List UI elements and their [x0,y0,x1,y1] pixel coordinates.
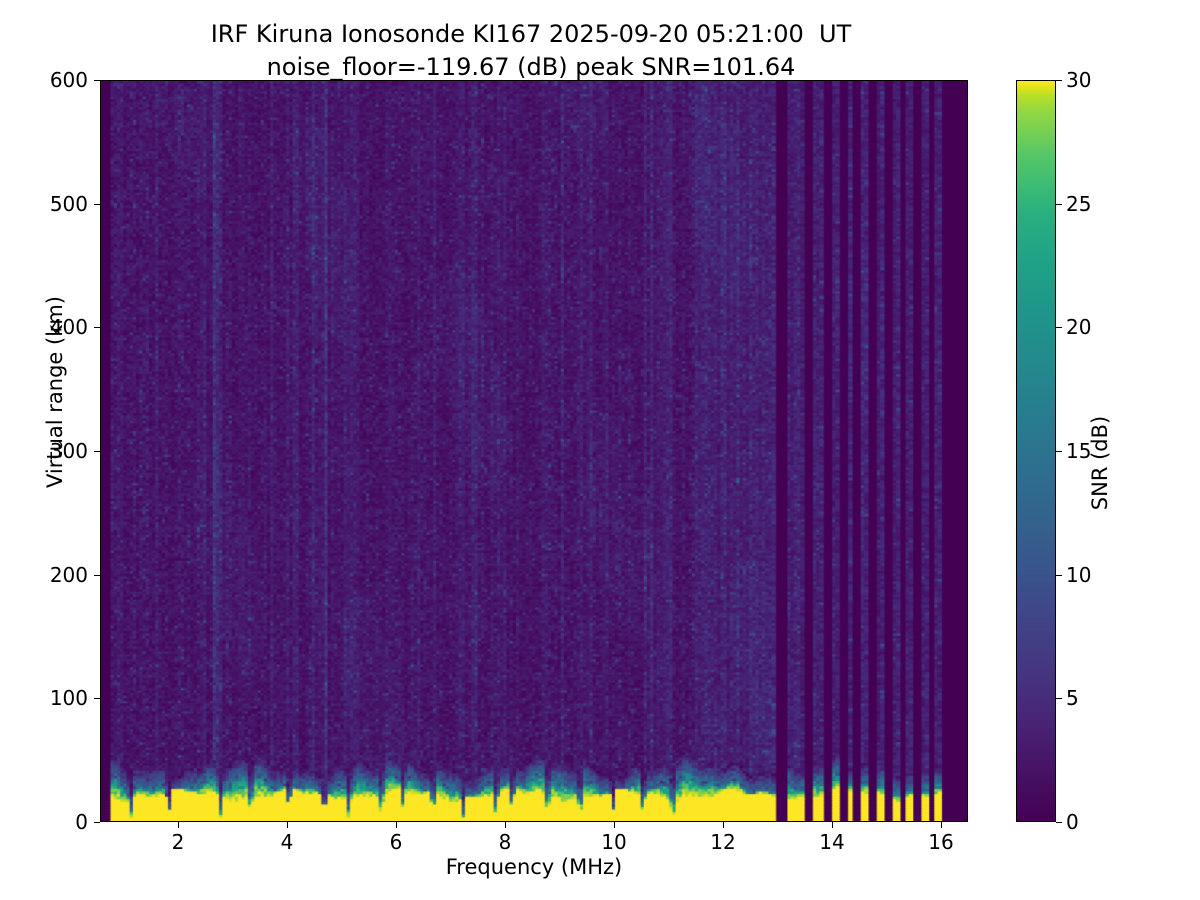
x-tick-6 [396,822,397,828]
y-tick-600 [94,80,100,81]
x-tick-label-12: 12 [710,830,735,854]
x-tick-2 [178,822,179,828]
x-tick-label-4: 4 [281,830,294,854]
ionogram-plot-area[interactable] [100,80,968,822]
x-tick-label-10: 10 [601,830,626,854]
y-tick-300 [94,451,100,452]
title-line-1: IRF Kiruna Ionosonde KI167 2025-09-20 05… [211,20,852,48]
x-tick-16 [941,822,942,828]
y-tick-500 [94,204,100,205]
ionogram-figure: IRF Kiruna Ionosonde KI167 2025-09-20 05… [0,0,1200,900]
y-tick-label-200: 200 [50,563,88,587]
x-tick-label-8: 8 [499,830,512,854]
colorbar-tick-30 [1056,80,1062,81]
x-tick-14 [832,822,833,828]
colorbar-label-20: 20 [1066,315,1091,339]
colorbar-axis-label: SNR (dB) [1088,363,1112,563]
x-axis-label: Frequency (MHz) [100,855,968,879]
x-tick-label-16: 16 [928,830,953,854]
x-tick-label-14: 14 [819,830,844,854]
colorbar-tick-0 [1056,822,1062,823]
y-tick-100 [94,698,100,699]
colorbar-tick-20 [1056,327,1062,328]
y-tick-label-600: 600 [50,68,88,92]
colorbar-label-30: 30 [1066,68,1091,92]
colorbar-label-0: 0 [1066,810,1079,834]
y-tick-label-100: 100 [50,686,88,710]
figure-title: IRF Kiruna Ionosonde KI167 2025-09-20 05… [0,18,1062,84]
y-axis-label: Virtual range (km) [43,262,67,522]
colorbar-tick-5 [1056,698,1062,699]
y-tick-200 [94,575,100,576]
x-tick-label-6: 6 [390,830,403,854]
y-tick-400 [94,327,100,328]
x-tick-12 [723,822,724,828]
colorbar-tick-15 [1056,451,1062,452]
colorbar-label-25: 25 [1066,192,1091,216]
colorbar-tick-25 [1056,204,1062,205]
title-line-2: noise_floor=-119.67 (dB) peak SNR=101.64 [267,53,796,81]
y-tick-0 [94,822,100,823]
x-tick-4 [287,822,288,828]
x-tick-8 [505,822,506,828]
y-tick-label-500: 500 [50,192,88,216]
colorbar-label-10: 10 [1066,563,1091,587]
y-tick-label-0: 0 [75,810,88,834]
colorbar-label-5: 5 [1066,686,1079,710]
colorbar-tick-10 [1056,575,1062,576]
snr-colorbar[interactable] [1016,80,1056,822]
x-tick-label-2: 2 [172,830,185,854]
x-tick-10 [614,822,615,828]
ionogram-heatmap-canvas [101,81,967,821]
